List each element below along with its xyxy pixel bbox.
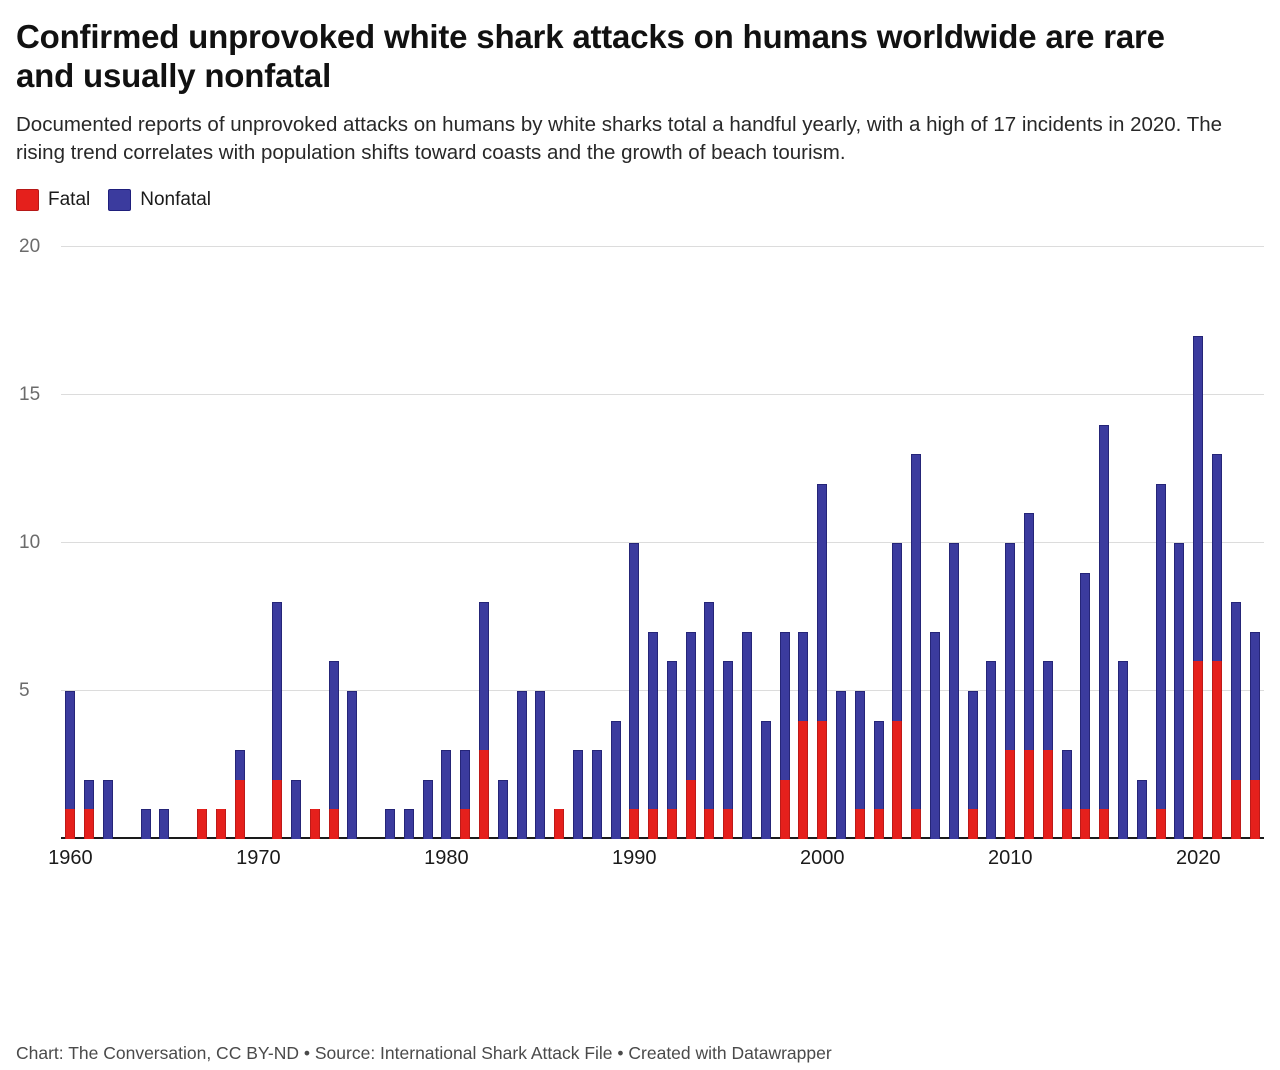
bar-segment-nonfatal[interactable] xyxy=(592,750,602,839)
bar-column[interactable] xyxy=(291,780,301,839)
bar-column[interactable] xyxy=(592,750,602,839)
bar-column[interactable] xyxy=(930,632,940,839)
bar-column[interactable] xyxy=(310,809,320,839)
bar-segment-fatal[interactable] xyxy=(1099,809,1109,839)
chart-page: Confirmed unprovoked white shark attacks… xyxy=(0,18,1280,1070)
bar-column[interactable] xyxy=(347,691,357,839)
bar-segment-fatal[interactable] xyxy=(84,809,94,839)
bar-segment-nonfatal[interactable] xyxy=(1005,543,1015,750)
x-axis-tick-label: 2010 xyxy=(988,847,1033,870)
bar-column[interactable] xyxy=(892,543,902,839)
bar-series-container xyxy=(61,247,1264,839)
legend-label-fatal: Fatal xyxy=(48,189,90,211)
bar-segment-fatal[interactable] xyxy=(479,750,489,839)
bar-segment-nonfatal[interactable] xyxy=(517,691,527,839)
bar-column[interactable] xyxy=(1212,454,1222,839)
legend-swatch-fatal xyxy=(16,189,39,211)
bar-column[interactable] xyxy=(1137,780,1147,839)
bar-segment-nonfatal[interactable] xyxy=(1212,454,1222,661)
bar-segment-fatal[interactable] xyxy=(1250,780,1260,839)
bar-segment-nonfatal[interactable] xyxy=(611,721,621,839)
legend-swatch-nonfatal xyxy=(108,189,131,211)
bar-segment-fatal[interactable] xyxy=(554,809,564,839)
bar-segment-fatal[interactable] xyxy=(216,809,226,839)
bar-segment-nonfatal[interactable] xyxy=(798,632,808,721)
bar-column[interactable] xyxy=(103,780,113,839)
bar-column[interactable] xyxy=(911,454,921,839)
y-axis-tick-label: 5 xyxy=(19,680,30,702)
x-axis-tick-label: 2000 xyxy=(800,847,845,870)
bar-segment-nonfatal[interactable] xyxy=(159,809,169,839)
bar-segment-nonfatal[interactable] xyxy=(441,750,451,839)
bar-segment-nonfatal[interactable] xyxy=(723,661,733,809)
bar-segment-nonfatal[interactable] xyxy=(1118,661,1128,839)
page-title: Confirmed unprovoked white shark attacks… xyxy=(16,18,1196,95)
y-axis-tick-label: 10 xyxy=(19,532,40,554)
bar-column[interactable] xyxy=(498,780,508,839)
bar-column[interactable] xyxy=(723,661,733,839)
bar-segment-nonfatal[interactable] xyxy=(930,632,940,839)
bar-segment-nonfatal[interactable] xyxy=(329,661,339,809)
bar-column[interactable] xyxy=(798,632,808,839)
x-axis-tick-label: 1980 xyxy=(424,847,469,870)
bar-segment-nonfatal[interactable] xyxy=(291,780,301,839)
bar-segment-nonfatal[interactable] xyxy=(460,750,470,809)
bar-segment-nonfatal[interactable] xyxy=(817,484,827,721)
bar-column[interactable] xyxy=(1024,513,1034,839)
bar-column[interactable] xyxy=(968,691,978,839)
bar-segment-nonfatal[interactable] xyxy=(1080,573,1090,810)
bar-segment-nonfatal[interactable] xyxy=(1231,602,1241,780)
bar-segment-nonfatal[interactable] xyxy=(1250,632,1260,780)
bar-column[interactable] xyxy=(780,632,790,839)
bar-segment-fatal[interactable] xyxy=(1080,809,1090,839)
chart-plot-wrapper: 5101520 1960197019801990200020102020 xyxy=(16,235,1264,835)
bar-segment-nonfatal[interactable] xyxy=(347,691,357,839)
bar-column[interactable] xyxy=(272,602,282,839)
bar-segment-nonfatal[interactable] xyxy=(535,691,545,839)
legend-label-nonfatal: Nonfatal xyxy=(140,189,211,211)
bar-segment-fatal[interactable] xyxy=(460,809,470,839)
bar-column[interactable] xyxy=(667,661,677,839)
bar-segment-nonfatal[interactable] xyxy=(385,809,395,839)
bar-segment-fatal[interactable] xyxy=(197,809,207,839)
y-axis-tick-label: 15 xyxy=(19,384,40,406)
bar-column[interactable] xyxy=(1250,632,1260,839)
bar-column[interactable] xyxy=(1174,543,1184,839)
bar-segment-nonfatal[interactable] xyxy=(780,632,790,780)
bar-segment-nonfatal[interactable] xyxy=(892,543,902,721)
bar-segment-nonfatal[interactable] xyxy=(986,661,996,839)
bar-column[interactable] xyxy=(235,750,245,839)
bar-column[interactable] xyxy=(761,721,771,839)
bar-segment-nonfatal[interactable] xyxy=(103,780,113,839)
bar-segment-nonfatal[interactable] xyxy=(704,602,714,809)
bar-column[interactable] xyxy=(1099,425,1109,839)
bar-segment-nonfatal[interactable] xyxy=(1043,661,1053,750)
bar-segment-fatal[interactable] xyxy=(874,809,884,839)
bar-column[interactable] xyxy=(423,780,433,839)
bar-segment-fatal[interactable] xyxy=(1193,661,1203,839)
bar-segment-nonfatal[interactable] xyxy=(404,809,414,839)
bar-segment-nonfatal[interactable] xyxy=(573,750,583,839)
legend-item-fatal[interactable]: Fatal xyxy=(16,189,90,211)
bar-segment-nonfatal[interactable] xyxy=(1156,484,1166,810)
bar-column[interactable] xyxy=(611,721,621,839)
bar-segment-nonfatal[interactable] xyxy=(1062,750,1072,809)
x-axis-tick-label: 1990 xyxy=(612,847,657,870)
bar-segment-nonfatal[interactable] xyxy=(911,454,921,809)
bar-column[interactable] xyxy=(441,750,451,839)
bar-segment-nonfatal[interactable] xyxy=(949,543,959,839)
bar-segment-fatal[interactable] xyxy=(911,809,921,839)
bar-segment-fatal[interactable] xyxy=(1156,809,1166,839)
bar-segment-fatal[interactable] xyxy=(704,809,714,839)
chart-legend: Fatal Nonfatal xyxy=(16,189,1264,211)
bar-column[interactable] xyxy=(686,632,696,839)
bar-segment-nonfatal[interactable] xyxy=(235,750,245,780)
bar-segment-fatal[interactable] xyxy=(1005,750,1015,839)
bar-segment-fatal[interactable] xyxy=(65,809,75,839)
bar-column[interactable] xyxy=(479,602,489,839)
bar-column[interactable] xyxy=(1043,661,1053,839)
bar-segment-fatal[interactable] xyxy=(1062,809,1072,839)
bar-segment-nonfatal[interactable] xyxy=(272,602,282,780)
chart-subtitle: Documented reports of unprovoked attacks… xyxy=(16,111,1246,167)
bar-column[interactable] xyxy=(84,780,94,839)
x-axis-tick-label: 1960 xyxy=(48,847,93,870)
bar-column[interactable] xyxy=(1080,573,1090,839)
bar-segment-fatal[interactable] xyxy=(667,809,677,839)
x-axis: 1960197019801990200020102020 xyxy=(61,847,1264,881)
bar-column[interactable] xyxy=(216,809,226,839)
bar-column[interactable] xyxy=(404,809,414,839)
bar-segment-nonfatal[interactable] xyxy=(874,721,884,810)
bar-segment-nonfatal[interactable] xyxy=(855,691,865,809)
bar-column[interactable] xyxy=(648,632,658,839)
bar-segment-fatal[interactable] xyxy=(329,809,339,839)
plot-area: 5101520 xyxy=(61,247,1264,839)
bar-column[interactable] xyxy=(573,750,583,839)
bar-segment-fatal[interactable] xyxy=(629,809,639,839)
bar-segment-fatal[interactable] xyxy=(817,721,827,839)
bar-segment-fatal[interactable] xyxy=(780,780,790,839)
bar-segment-nonfatal[interactable] xyxy=(1024,513,1034,750)
bar-segment-nonfatal[interactable] xyxy=(1099,425,1109,810)
bar-column[interactable] xyxy=(197,809,207,839)
bar-segment-nonfatal[interactable] xyxy=(1174,543,1184,839)
bar-segment-nonfatal[interactable] xyxy=(648,632,658,810)
bar-segment-fatal[interactable] xyxy=(235,780,245,839)
bar-segment-fatal[interactable] xyxy=(855,809,865,839)
bar-column[interactable] xyxy=(704,602,714,839)
bar-segment-nonfatal[interactable] xyxy=(686,632,696,780)
bar-column[interactable] xyxy=(1193,336,1203,839)
bar-column[interactable] xyxy=(460,750,470,839)
bar-column[interactable] xyxy=(836,691,846,839)
bar-column[interactable] xyxy=(1231,602,1241,839)
bar-segment-nonfatal[interactable] xyxy=(968,691,978,809)
bar-segment-fatal[interactable] xyxy=(310,809,320,839)
y-axis-tick-label: 20 xyxy=(19,236,40,258)
bar-segment-nonfatal[interactable] xyxy=(423,780,433,839)
bar-segment-fatal[interactable] xyxy=(1212,661,1222,839)
bar-segment-fatal[interactable] xyxy=(798,721,808,839)
bar-column[interactable] xyxy=(517,691,527,839)
bar-column[interactable] xyxy=(986,661,996,839)
bar-segment-fatal[interactable] xyxy=(723,809,733,839)
bar-column[interactable] xyxy=(329,661,339,839)
bar-column[interactable] xyxy=(629,543,639,839)
x-axis-tick-label: 1970 xyxy=(236,847,281,870)
bar-segment-nonfatal[interactable] xyxy=(65,691,75,809)
bar-column[interactable] xyxy=(949,543,959,839)
bar-column[interactable] xyxy=(817,484,827,839)
bar-segment-fatal[interactable] xyxy=(1043,750,1053,839)
bar-segment-nonfatal[interactable] xyxy=(479,602,489,750)
bar-segment-nonfatal[interactable] xyxy=(1137,780,1147,839)
bar-segment-fatal[interactable] xyxy=(648,809,658,839)
bar-column[interactable] xyxy=(742,632,752,839)
bar-column[interactable] xyxy=(1062,750,1072,839)
bar-column[interactable] xyxy=(535,691,545,839)
bar-segment-fatal[interactable] xyxy=(686,780,696,839)
bar-column[interactable] xyxy=(1005,543,1015,839)
chart-footer: Chart: The Conversation, CC BY-ND • Sour… xyxy=(16,1043,832,1064)
x-axis-tick-label: 2020 xyxy=(1176,847,1221,870)
bar-segment-nonfatal[interactable] xyxy=(629,543,639,809)
bar-segment-nonfatal[interactable] xyxy=(742,632,752,839)
bar-segment-fatal[interactable] xyxy=(1231,780,1241,839)
bar-column[interactable] xyxy=(554,809,564,839)
bar-column[interactable] xyxy=(65,691,75,839)
bar-segment-fatal[interactable] xyxy=(892,721,902,839)
bar-segment-fatal[interactable] xyxy=(1024,750,1034,839)
bar-segment-nonfatal[interactable] xyxy=(667,661,677,809)
bar-segment-nonfatal[interactable] xyxy=(1193,336,1203,662)
bar-column[interactable] xyxy=(855,691,865,839)
bar-column[interactable] xyxy=(385,809,395,839)
bar-segment-nonfatal[interactable] xyxy=(84,780,94,810)
bar-segment-nonfatal[interactable] xyxy=(761,721,771,839)
bar-segment-fatal[interactable] xyxy=(968,809,978,839)
bar-column[interactable] xyxy=(159,809,169,839)
bar-column[interactable] xyxy=(141,809,151,839)
bar-segment-nonfatal[interactable] xyxy=(836,691,846,839)
bar-column[interactable] xyxy=(874,721,884,839)
bar-column[interactable] xyxy=(1118,661,1128,839)
bar-segment-nonfatal[interactable] xyxy=(141,809,151,839)
bar-column[interactable] xyxy=(1156,484,1166,839)
legend-item-nonfatal[interactable]: Nonfatal xyxy=(108,189,211,211)
bar-segment-fatal[interactable] xyxy=(272,780,282,839)
bar-segment-nonfatal[interactable] xyxy=(498,780,508,839)
